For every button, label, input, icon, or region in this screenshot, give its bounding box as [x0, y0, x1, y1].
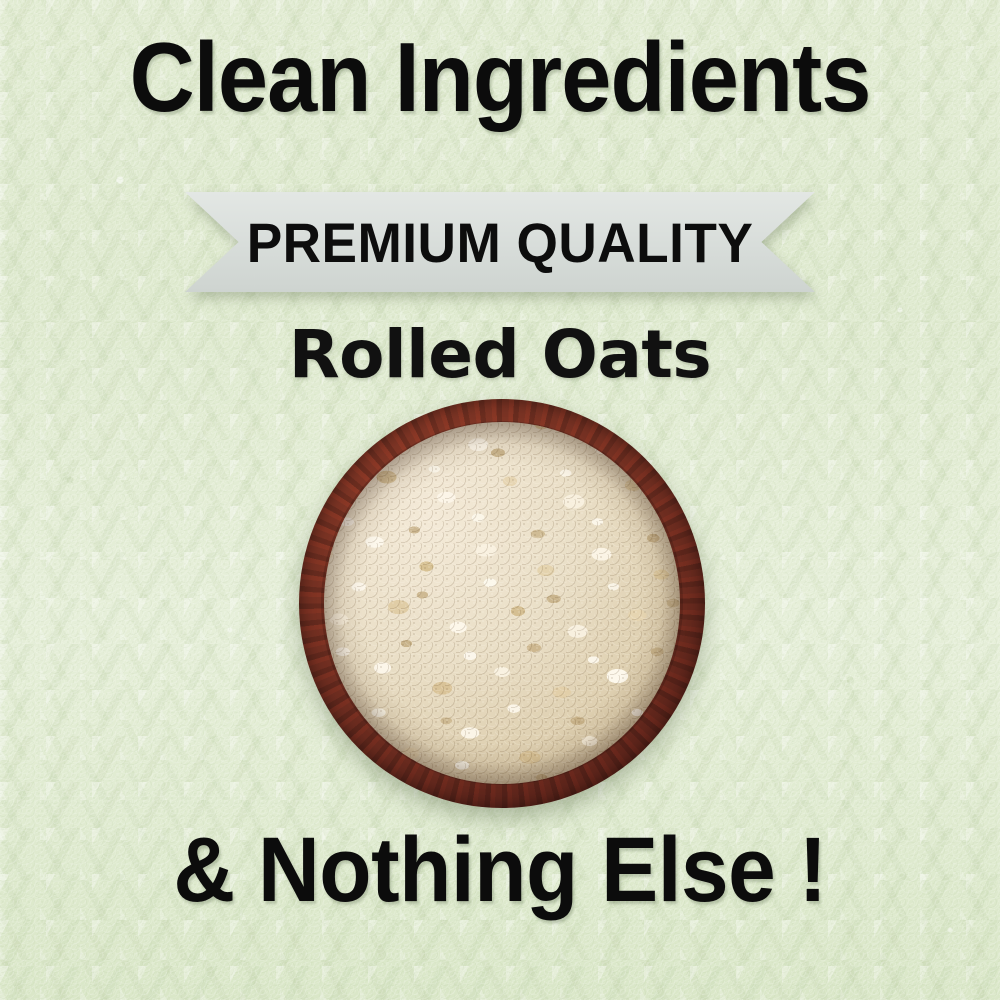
page-title: Clean Ingredients	[40, 28, 960, 128]
status-badge: PREMIUM QUALITY	[201, 192, 800, 292]
product-promo-poster: Clean Ingredients PREMIUM QUALITY Rolled…	[0, 0, 1000, 1000]
tagline: & Nothing Else !	[35, 818, 965, 923]
product-name: Rolled Oats	[0, 316, 1000, 393]
rolled-oats-fill	[324, 422, 680, 784]
oat-flakes-layer-2	[324, 422, 680, 784]
premium-quality-ribbon-badge: PREMIUM QUALITY	[185, 192, 815, 292]
oats-bowl-image	[299, 399, 705, 808]
